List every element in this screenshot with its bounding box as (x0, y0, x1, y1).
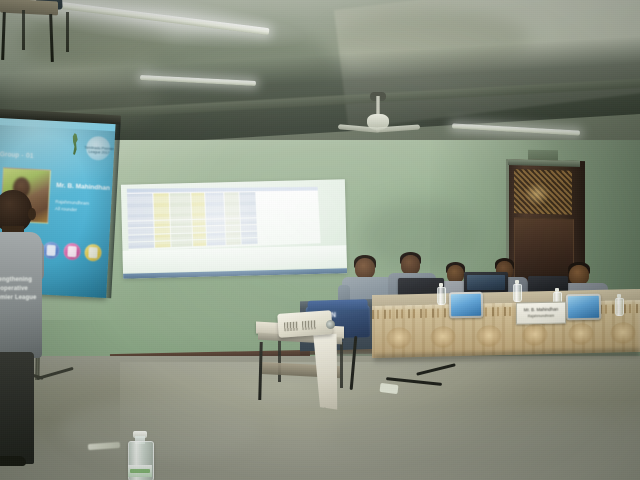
trousers (0, 352, 34, 464)
bag-flap (308, 299, 368, 311)
cloth-motif (522, 324, 548, 347)
spreadsheet-cell (171, 244, 192, 248)
projector-desk (256, 318, 348, 428)
spreadsheet-projection (121, 179, 347, 278)
door-mesh-glow (524, 181, 550, 206)
cloth-motif (430, 326, 456, 349)
tshirt-line2: Co-operative (0, 286, 28, 292)
name-placard: Mr. B. Mahindhan Rajahmundhram (516, 301, 566, 324)
cloth-motif (476, 325, 502, 348)
desk-leg (278, 338, 281, 382)
fan-rod (376, 96, 380, 116)
placard-subtitle: Rajahmundhram (517, 313, 565, 318)
foreground-participant: Strengthening Co-operative Premier Leagu… (0, 190, 48, 460)
bottle-body (513, 284, 522, 302)
projector-vent (284, 321, 299, 331)
tablet-screen (568, 296, 599, 319)
head (401, 255, 420, 275)
bottle-body (615, 298, 624, 316)
floor-patch (330, 400, 610, 470)
shoe (0, 456, 26, 466)
placard-name: Mr. B. Mahindhan (517, 306, 565, 312)
ear (28, 208, 36, 220)
tablet-screen (451, 294, 481, 317)
water-bottle[interactable] (437, 283, 444, 303)
tablet[interactable] (566, 294, 601, 321)
bottle-label-stripe (130, 469, 150, 473)
tshirt-line1: Strengthening (0, 277, 32, 283)
fluorescent-tube-icon (452, 123, 580, 135)
spreadsheet-cell (242, 241, 258, 245)
bottle-body (437, 287, 446, 305)
photograph-scene: SHMN project kit (0, 0, 640, 480)
water-bottle[interactable] (128, 431, 152, 480)
spreadsheet-cell (128, 245, 154, 249)
water-bottle[interactable] (615, 294, 622, 314)
floor-patch (60, 400, 260, 460)
spreadsheet-cell (207, 242, 225, 246)
head (355, 258, 375, 279)
laptop-screen (467, 275, 505, 290)
desk-leg (340, 342, 343, 388)
spreadsheet-cell (155, 244, 171, 248)
water-bottle[interactable] (513, 280, 520, 300)
video-projector[interactable] (277, 310, 333, 338)
tablet[interactable] (449, 292, 483, 319)
spreadsheet-grid (127, 187, 321, 251)
cloth-motif (568, 323, 594, 346)
spreadsheet-cell (193, 243, 206, 246)
cloth-motif (610, 322, 636, 345)
spreadsheet-cell (226, 242, 241, 245)
chair-leg (22, 10, 25, 50)
tshirt-line3: Premier League (0, 295, 36, 301)
head (569, 265, 589, 285)
chair-leg (66, 12, 69, 52)
projector-vent (302, 320, 317, 330)
cloth-motif (386, 327, 412, 350)
ceiling-stain (20, 12, 170, 72)
tshirt-print: Strengthening Co-operative Premier Leagu… (0, 276, 40, 303)
